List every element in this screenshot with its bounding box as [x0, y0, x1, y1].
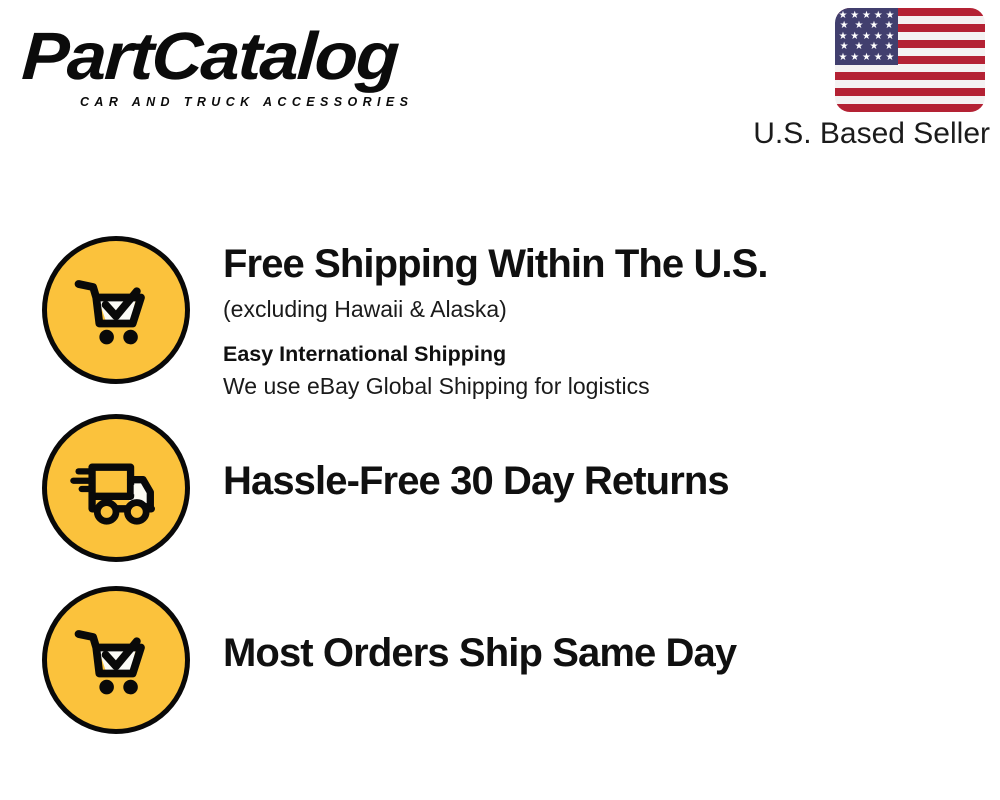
delivery-truck-icon [42, 414, 190, 562]
flag-star-row: ★ ★ ★ ★ ★ [835, 32, 898, 42]
benefit-text: Free Shipping Within The U.S. (excluding… [190, 236, 1000, 401]
flag-star-row: ★ ★ ★ ★ [835, 21, 898, 31]
shopping-cart-check-icon [42, 236, 190, 384]
flag-star: ★ [855, 42, 864, 52]
flag-star: ★ [850, 53, 859, 63]
flag-star: ★ [886, 53, 895, 63]
brand-tagline: CAR AND TRUCK ACCESSORIES [80, 95, 413, 109]
flag-star: ★ [884, 21, 893, 31]
flag-star: ★ [839, 32, 848, 42]
seller-caption: U.S. Based Seller [707, 117, 990, 151]
flag-star-row: ★ ★ ★ ★ ★ [835, 53, 898, 63]
flag-stripe [835, 80, 985, 88]
flag-star: ★ [840, 42, 849, 52]
flag-stripe [835, 104, 985, 112]
benefit-title: Hassle-Free 30 Day Returns [223, 458, 1000, 504]
flag-star: ★ [874, 11, 883, 21]
flag-star: ★ [884, 42, 893, 52]
benefit-note: (excluding Hawaii & Alaska) [223, 294, 1000, 324]
flag-star: ★ [839, 53, 848, 63]
flag-star: ★ [850, 32, 859, 42]
flag-star: ★ [870, 42, 879, 52]
seller-badge: ★ ★ ★ ★ ★ ★ ★ ★ ★ ★ ★ ★ ★ ★ [707, 8, 992, 151]
flag-star: ★ [874, 53, 883, 63]
brand-logo[interactable]: PartCatalog CAR AND TRUCK ACCESSORIES [24, 22, 494, 117]
flag-star: ★ [840, 21, 849, 31]
us-flag-icon: ★ ★ ★ ★ ★ ★ ★ ★ ★ ★ ★ ★ ★ ★ [835, 8, 985, 112]
benefit-text: Hassle-Free 30 Day Returns [190, 414, 1000, 504]
flag-stripe [835, 96, 985, 104]
flag-star: ★ [862, 32, 871, 42]
flag-stripe [835, 72, 985, 80]
benefit-sub-heading: Easy International Shipping [223, 340, 1000, 368]
shopping-cart-check-icon [42, 586, 190, 734]
flag-star: ★ [886, 11, 895, 21]
page-header: PartCatalog CAR AND TRUCK ACCESSORIES ★ … [0, 0, 1000, 170]
benefit-title: Free Shipping Within The U.S. [223, 241, 1000, 287]
brand-wordmark: PartCatalog [20, 22, 522, 92]
flag-star: ★ [886, 32, 895, 42]
flag-star: ★ [862, 53, 871, 63]
benefit-row: Hassle-Free 30 Day Returns [0, 414, 1000, 562]
flag-star: ★ [850, 11, 859, 21]
flag-star: ★ [862, 11, 871, 21]
flag-star-row: ★ ★ ★ ★ ★ [835, 11, 898, 21]
flag-stripe [835, 88, 985, 96]
benefit-text: Most Orders Ship Same Day [190, 586, 1000, 676]
benefit-sub-text: We use eBay Global Shipping for logistic… [223, 371, 1000, 401]
flag-star-row: ★ ★ ★ ★ [835, 42, 898, 52]
flag-star: ★ [874, 32, 883, 42]
flag-canton: ★ ★ ★ ★ ★ ★ ★ ★ ★ ★ ★ ★ ★ ★ [835, 8, 898, 65]
benefit-row: Free Shipping Within The U.S. (excluding… [0, 236, 1000, 401]
flag-stripe [835, 64, 985, 72]
flag-star: ★ [855, 21, 864, 31]
flag-star: ★ [839, 11, 848, 21]
benefit-row: Most Orders Ship Same Day [0, 586, 1000, 734]
flag-star: ★ [870, 21, 879, 31]
benefit-title: Most Orders Ship Same Day [223, 630, 1000, 676]
